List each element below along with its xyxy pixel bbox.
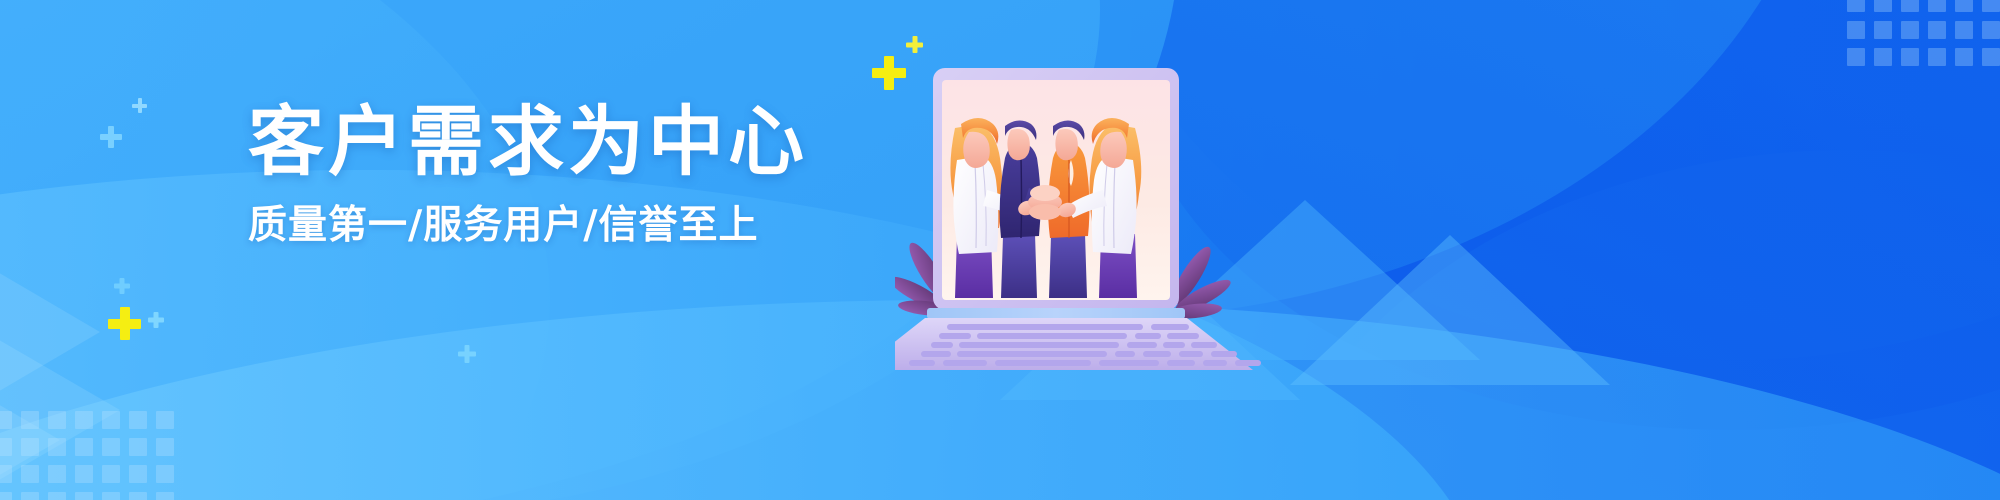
banner-headline: 客户需求为中心 bbox=[248, 104, 848, 180]
wave-deep-bottom-right bbox=[1250, 150, 2000, 500]
dot-grid-bottom-left bbox=[0, 411, 174, 500]
cross-yellow-bottom-icon bbox=[108, 307, 141, 340]
triangle-accent-2 bbox=[1290, 235, 1610, 385]
cross-cyan-tiny-icon bbox=[114, 278, 130, 294]
laptop-illustration-svg bbox=[895, 40, 1325, 370]
banner-text-block: 客户需求为中心 质量第一/服务用户/信誉至上 bbox=[248, 104, 848, 245]
banner-subtitle: 质量第一/服务用户/信誉至上 bbox=[248, 206, 848, 245]
promo-banner: 客户需求为中心 质量第一/服务用户/信誉至上 bbox=[0, 0, 2000, 500]
cross-cyan-medium-icon bbox=[100, 126, 122, 148]
chevron-accent-3 bbox=[0, 250, 100, 414]
laptop-hinge bbox=[927, 308, 1185, 319]
cross-cyan-bottom-icon bbox=[148, 312, 164, 328]
dot-grid-top-right bbox=[1847, 0, 2000, 66]
cross-cyan-right-icon bbox=[458, 345, 476, 363]
cross-cyan-small-icon bbox=[132, 98, 147, 113]
laptop-illustration bbox=[895, 40, 1325, 370]
hands-stack bbox=[1028, 185, 1062, 220]
